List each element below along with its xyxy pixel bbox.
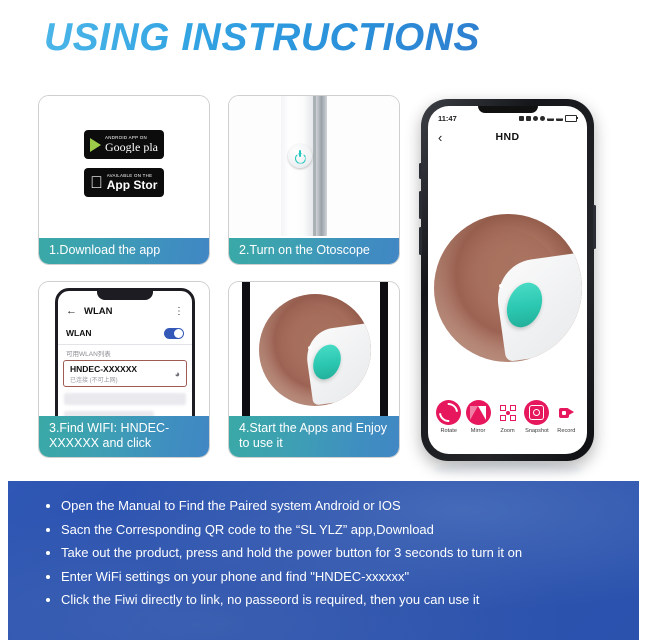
ear-canal-glint xyxy=(499,284,503,288)
available-networks-label: 可用WLAN列表 xyxy=(66,348,111,358)
step-panel-start-apps: 4.Start the Apps and Enjoy to use it xyxy=(228,281,400,458)
ear-view-screen xyxy=(250,282,380,417)
step-panel-turn-on-otoscope: 2.Turn on the Otoscope xyxy=(228,95,400,265)
android-settings-phone: ← WLAN ⋮ WLAN 可用WLAN列表 HNDEC-XXXXXX 已连接 … xyxy=(55,288,195,417)
step-3-caption: 3.Find WIFI: HNDEC-XXXXXX and click xyxy=(39,416,209,457)
list-item: Sacn the Corresponding QR code to the “S… xyxy=(46,518,639,542)
list-item: Enter WiFi settings on your phone and fi… xyxy=(46,565,639,589)
instructions-panel: Open the Manual to Find the Paired syste… xyxy=(8,481,639,640)
back-arrow-icon[interactable]: ← xyxy=(66,306,77,317)
list-item: Open the Manual to Find the Paired syste… xyxy=(46,494,639,518)
signal-bars-icon xyxy=(556,115,563,121)
wifi-network-item-hndec[interactable]: HNDEC-XXXXXX 已连接 (不可上网) ◕ xyxy=(63,360,187,387)
step-4-illustration xyxy=(229,282,399,417)
otoscope-seam xyxy=(313,96,316,236)
phone-reflection xyxy=(433,462,583,478)
step-panel-find-wifi: ← WLAN ⋮ WLAN 可用WLAN列表 HNDEC-XXXXXX 已连接 … xyxy=(38,281,210,458)
step-4-caption: 4.Start the Apps and Enjoy to use it xyxy=(229,416,399,457)
app-store-badge-main: App Store xyxy=(107,179,158,191)
wifi-network-item-blurred xyxy=(64,393,186,405)
wifi-ssid: HNDEC-XXXXXX xyxy=(70,364,180,374)
page-title: USING INSTRUCTIONS xyxy=(44,16,480,60)
toolbar-label-mirror: Mirror xyxy=(471,428,486,434)
app-nav-bar: ‹ HND xyxy=(428,126,587,148)
wlan-toggle-label: WLAN xyxy=(66,328,92,338)
google-play-badge-main: Google play xyxy=(105,141,158,153)
record-icon xyxy=(554,400,579,425)
toolbar-label-rotate: Rotate xyxy=(440,428,456,434)
wlan-screen-title: WLAN xyxy=(84,306,113,317)
power-icon xyxy=(294,150,307,163)
bluetooth-icon xyxy=(533,116,538,121)
toolbar-button-record[interactable]: Record xyxy=(552,400,581,434)
battery-icon xyxy=(565,115,577,122)
toolbar-button-rotate[interactable]: Rotate xyxy=(434,400,463,434)
snapshot-icon xyxy=(524,400,549,425)
instruction-list: Open the Manual to Find the Paired syste… xyxy=(8,481,639,612)
wlan-app-bar: ← WLAN ⋮ xyxy=(58,302,192,320)
phone-power-button[interactable] xyxy=(593,205,596,249)
mirror-icon xyxy=(466,400,491,425)
phone-volume-up-button[interactable] xyxy=(419,191,422,219)
zoom-icon xyxy=(495,400,520,425)
toolbar-label-snapshot: Snapshot xyxy=(525,428,549,434)
step-3-illustration: ← WLAN ⋮ WLAN 可用WLAN列表 HNDEC-XXXXXX 已连接 … xyxy=(39,282,209,417)
google-play-badge[interactable]: ANDROID APP ON Google play xyxy=(84,130,164,159)
ear-canal-image xyxy=(259,294,371,406)
phone-notch xyxy=(97,291,153,300)
divider xyxy=(58,344,192,345)
status-bar-icons xyxy=(519,115,577,122)
wifi-icon xyxy=(547,115,554,121)
step-2-illustration xyxy=(229,96,399,236)
rotate-icon xyxy=(436,400,461,425)
app-title: HND xyxy=(496,131,520,143)
toolbar-button-zoom[interactable]: Zoom xyxy=(493,400,522,434)
app-screen: 11:47 ‹ HND Rotate xyxy=(428,106,587,454)
status-bar-time: 11:47 xyxy=(438,114,457,123)
live-ear-view[interactable] xyxy=(434,214,582,362)
notification-icon xyxy=(519,116,524,121)
step-1-caption: 1.Download the app xyxy=(39,238,209,264)
otoscope-power-button[interactable] xyxy=(288,144,312,168)
wlan-toggle-switch[interactable] xyxy=(164,328,184,339)
wifi-status: 已连接 (不可上网) xyxy=(70,375,180,384)
toolbar-label-record: Record xyxy=(557,428,575,434)
wlan-toggle-row[interactable]: WLAN xyxy=(58,322,192,344)
app-store-badge[interactable]:  Available on the App Store xyxy=(84,168,164,197)
step-2-caption: 2.Turn on the Otoscope xyxy=(229,238,399,264)
store-badges: ANDROID APP ON Google play  Available o… xyxy=(84,130,164,197)
back-chevron-icon[interactable]: ‹ xyxy=(438,131,442,144)
toolbar-button-snapshot[interactable]: Snapshot xyxy=(522,400,551,434)
step-panel-download-app: ANDROID APP ON Google play  Available o… xyxy=(38,95,210,265)
list-item: Click the Fiwi directly to link, no pass… xyxy=(46,588,639,612)
step-1-illustration: ANDROID APP ON Google play  Available o… xyxy=(39,96,209,236)
google-play-triangle-icon xyxy=(90,138,101,152)
phone-volume-down-button[interactable] xyxy=(419,227,422,255)
toolbar-button-mirror[interactable]: Mirror xyxy=(463,400,492,434)
status-bar: 11:47 xyxy=(428,112,587,124)
otoscope-app-phone: 11:47 ‹ HND Rotate xyxy=(421,99,594,461)
app-toolbar: Rotate Mirror Zoom Snapshot Reco xyxy=(428,400,587,446)
toolbar-label-zoom: Zoom xyxy=(500,428,514,434)
overflow-menu-icon[interactable]: ⋮ xyxy=(174,308,184,315)
ear-canal-glint xyxy=(308,346,312,350)
phone-frame xyxy=(242,282,388,417)
list-item: Take out the product, press and hold the… xyxy=(46,541,639,565)
apple-logo-icon:  xyxy=(90,174,103,191)
phone-side-button[interactable] xyxy=(419,163,422,179)
alarm-icon xyxy=(540,116,545,121)
wifi-icon: ◕ xyxy=(175,369,180,379)
notification-icon xyxy=(526,116,531,121)
